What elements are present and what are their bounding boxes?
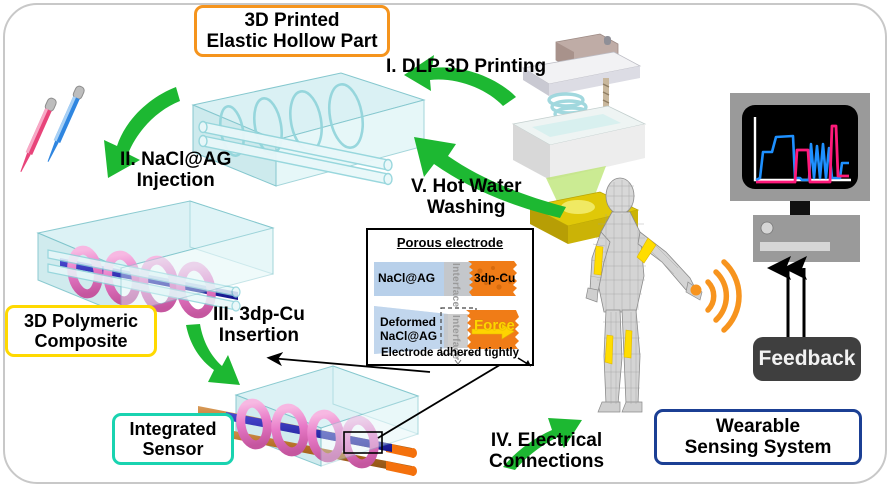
step-label-iii: III. 3dp-Cu Insertion	[213, 305, 305, 347]
step-line: III. 3dp-Cu	[213, 305, 305, 326]
label-line: Integrated	[129, 419, 216, 439]
inset-3dp-cu-label: 3dp-Cu	[474, 271, 515, 285]
label-line: Sensor	[142, 439, 203, 459]
label-wearable-system: Wearable Sensing System	[654, 409, 862, 465]
label-line: 3D Polymeric	[24, 311, 138, 331]
inset-nacl-ag-label: NaCl@AG	[378, 271, 435, 285]
step-line: IV. Electrical	[489, 431, 604, 452]
step-label-ii: II. NaCl@AG Injection	[120, 150, 231, 192]
label-line: 3D Printed	[244, 10, 339, 31]
inset-force-label: Force	[474, 317, 515, 334]
step-label-i: I. DLP 3D Printing	[386, 57, 546, 78]
pipettes-icon	[17, 85, 86, 174]
inset-deformed-line: Deformed	[380, 316, 437, 330]
feedback-label: Feedback	[759, 347, 856, 371]
label-line: Elastic Hollow Part	[206, 31, 377, 52]
step-line: I. DLP 3D Printing	[386, 57, 546, 78]
porous-electrode-inset: Porous electrode	[366, 228, 534, 366]
label-3d-printed-part: 3D Printed Elastic Hollow Part	[194, 5, 390, 57]
label-polymeric-composite: 3D Polymeric Composite	[5, 305, 157, 357]
inset-interface-label-top: Interface	[450, 263, 461, 307]
figure-root: 3D Printed Elastic Hollow Part 3D Polyme…	[0, 0, 892, 489]
step-line: Insertion	[213, 326, 305, 347]
monitor-icon	[730, 93, 870, 215]
step-line: Injection	[120, 171, 231, 192]
step-line: II. NaCl@AG	[120, 150, 231, 171]
step-line: Connections	[489, 452, 604, 473]
feedback-arrows	[788, 268, 804, 338]
step-label-v: V. Hot Water Washing	[411, 177, 522, 219]
step-line: Washing	[411, 198, 522, 219]
step-label-iv: IV. Electrical Connections	[489, 431, 604, 473]
step-line: V. Hot Water	[411, 177, 522, 198]
label-line: Composite	[34, 331, 127, 351]
receiver-box-icon	[753, 215, 860, 262]
inset-deformed-line: NaCl@AG	[380, 330, 437, 344]
composite-model	[38, 201, 273, 316]
label-line: Sensing System	[685, 437, 832, 458]
inset-deformed-label: Deformed NaCl@AG	[380, 316, 437, 344]
feedback-box: Feedback	[753, 337, 861, 381]
label-line: Wearable	[716, 416, 800, 437]
inset-caption: Electrode adhered tightly	[368, 347, 532, 359]
label-integrated-sensor: Integrated Sensor	[112, 413, 234, 465]
